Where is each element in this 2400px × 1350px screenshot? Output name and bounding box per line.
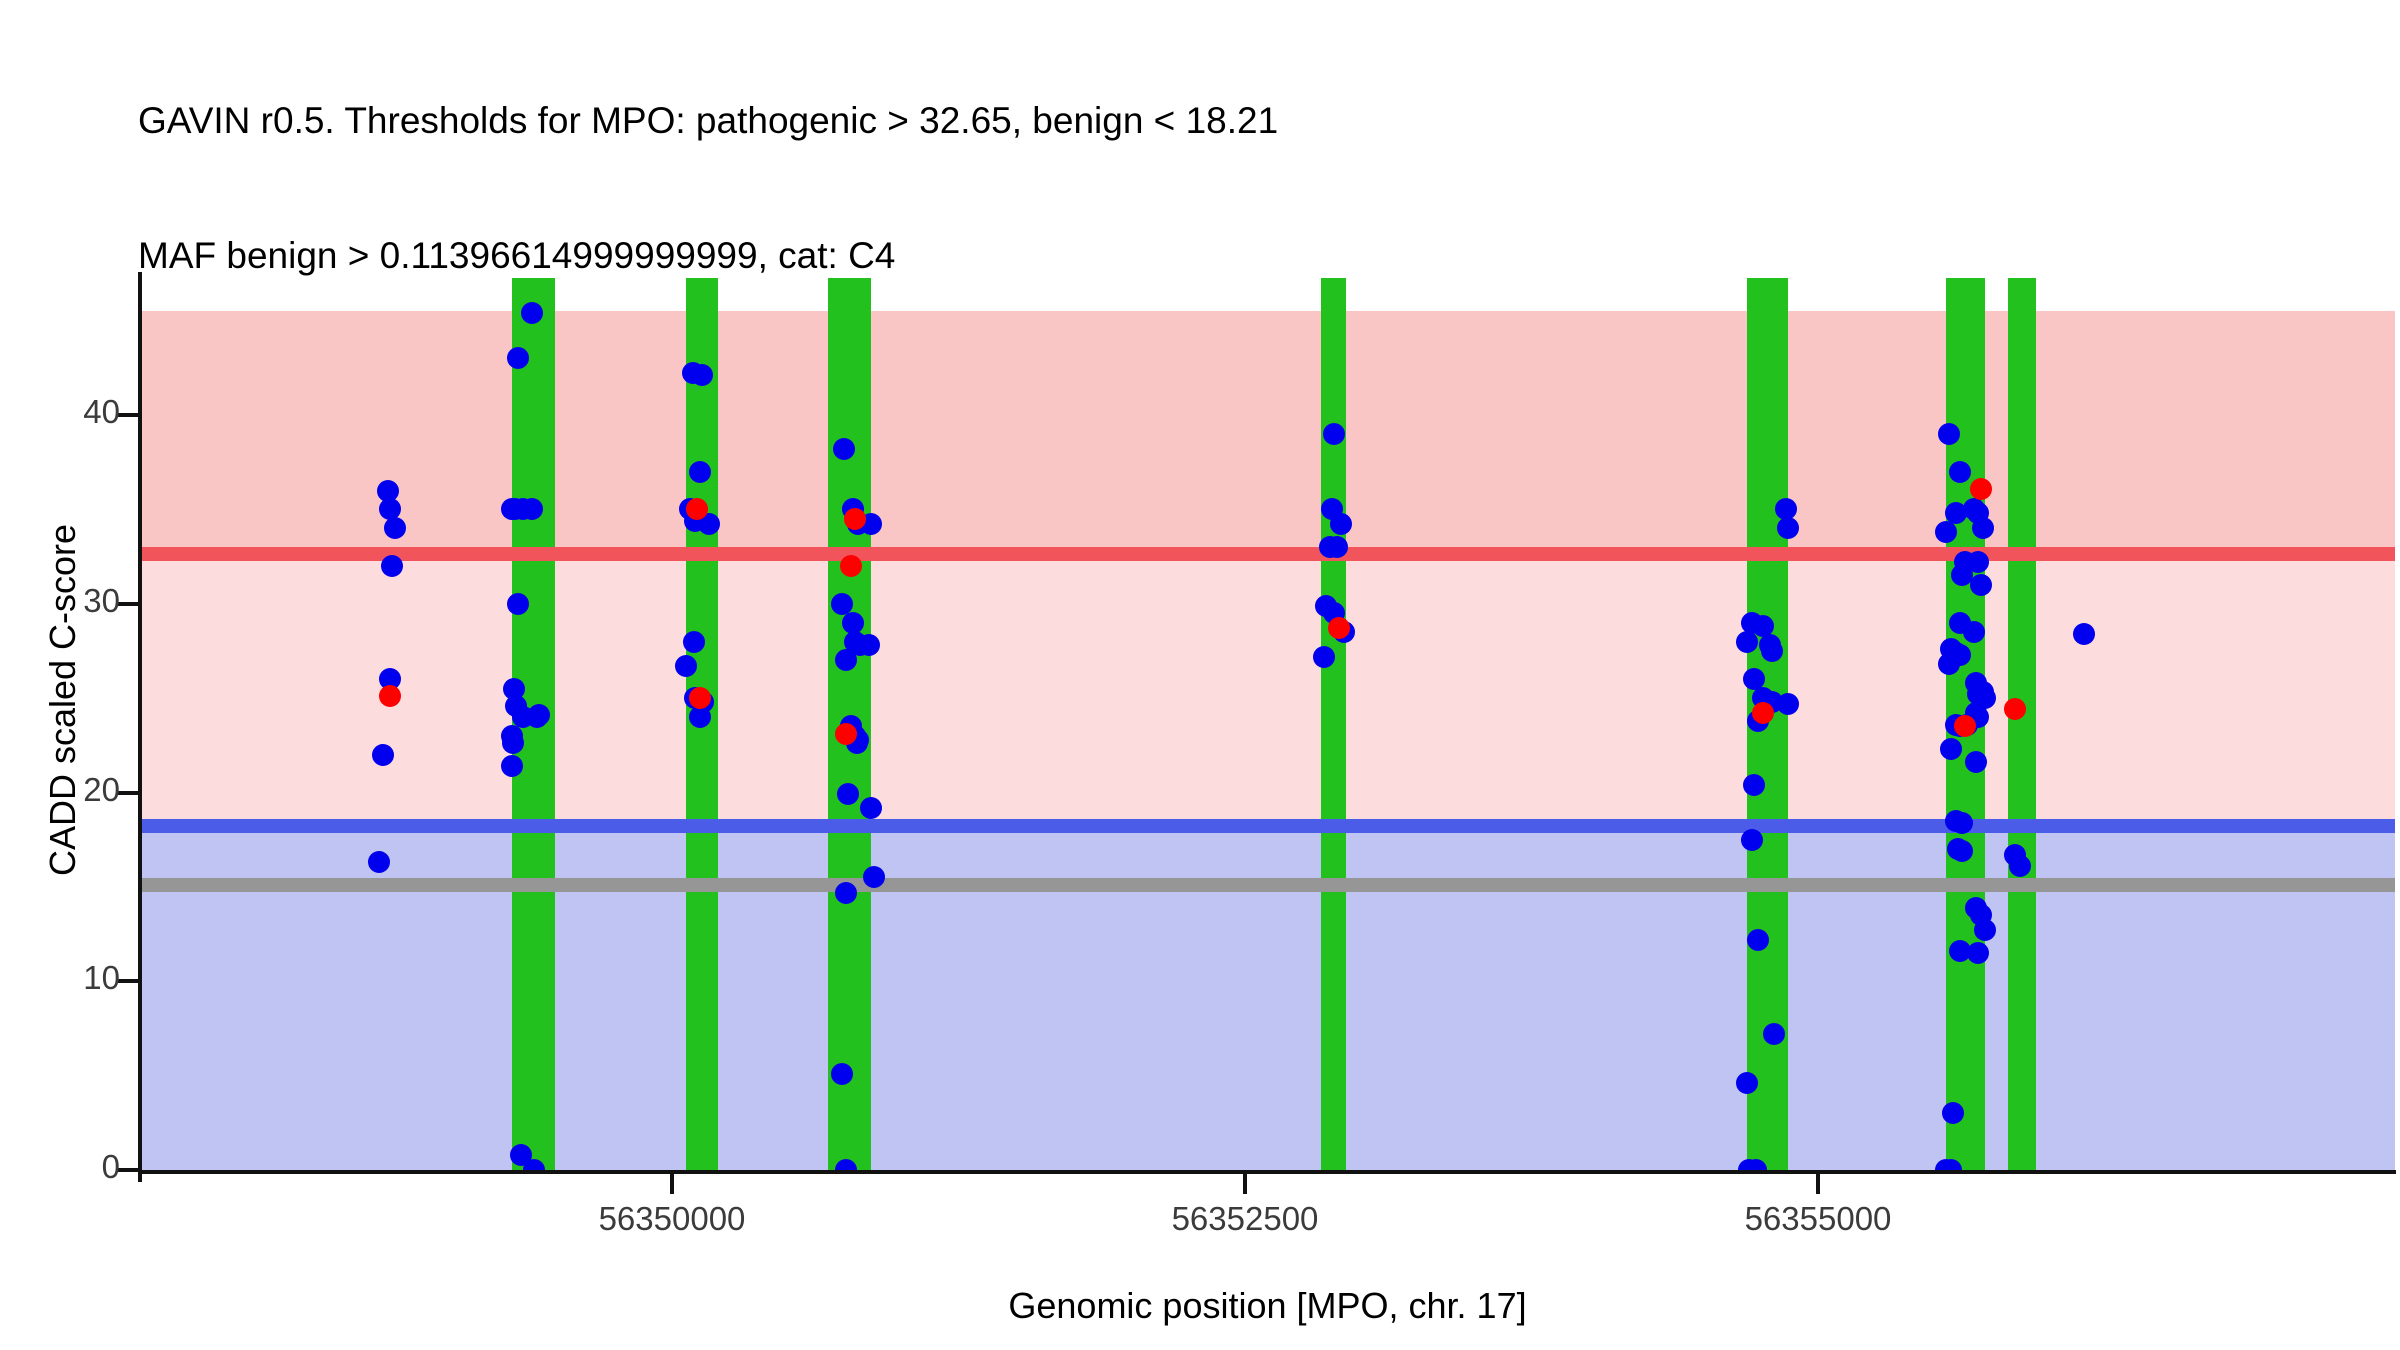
x-tick-label: 56355000	[1688, 1200, 1948, 1238]
gnomad-variant-point	[1938, 653, 1960, 675]
y-axis-title: CADD scaled C-score	[42, 250, 84, 1150]
y-tick-mark	[118, 413, 138, 417]
title-line-2: MAF benign > 0.11396614999999999, cat: C…	[138, 233, 2338, 278]
gnomad-variant-point	[1326, 536, 1348, 558]
clinvar-pathogenic-point	[1970, 478, 1992, 500]
gnomad-variant-point	[863, 866, 885, 888]
clinvar-pathogenic-point	[1954, 715, 1976, 737]
clinvar-pathogenic-point	[840, 555, 862, 577]
gnomad-variant-point	[1761, 640, 1783, 662]
gnomad-variant-point	[683, 631, 705, 653]
exon-bar	[2008, 278, 2036, 1170]
chart-root: GAVIN r0.5. Thresholds for MPO: pathogen…	[0, 0, 2400, 1350]
gnomad-variant-point	[689, 706, 711, 728]
y-tick-mark	[118, 791, 138, 795]
y-tick-label: 0	[0, 1148, 120, 1186]
gnomad-variant-point	[528, 704, 550, 726]
gnomad-variant-point	[384, 517, 406, 539]
gnomad-variant-point	[689, 461, 711, 483]
gnomad-variant-point	[1940, 738, 1962, 760]
x-axis-title: Genomic position [MPO, chr. 17]	[140, 1285, 2395, 1327]
gnomad-variant-point	[1963, 621, 1985, 643]
gnomad-variant-point	[1313, 646, 1335, 668]
x-tick-mark	[670, 1174, 674, 1194]
gnomad-variant-point	[1743, 774, 1765, 796]
gnomad-variant-point	[860, 797, 882, 819]
gnomad-variant-point	[1938, 423, 1960, 445]
x-tick-mark	[1243, 1174, 1247, 1194]
gnomad-variant-point	[502, 732, 524, 754]
y-tick-mark	[118, 979, 138, 983]
x-tick-label: 56352500	[1115, 1200, 1375, 1238]
gnomad-variant-point	[1777, 693, 1799, 715]
band-vous-zone	[140, 554, 2395, 827]
gnomad-variant-point	[1949, 461, 1971, 483]
gnomad-variant-point	[1951, 812, 1973, 834]
x-axis-line	[138, 1170, 2396, 1174]
gnomad-variant-point	[1747, 929, 1769, 951]
gnomad-variant-point	[835, 882, 857, 904]
band-pathogenic-zone	[140, 311, 2395, 554]
gnomad-variant-point	[675, 655, 697, 677]
threshold-line-benign	[140, 819, 2395, 833]
gnomad-variant-point	[2009, 855, 2031, 877]
gnomad-variant-point	[2073, 623, 2095, 645]
gnomad-variant-point	[691, 364, 713, 386]
gnomad-variant-point	[1741, 829, 1763, 851]
y-axis-line	[138, 272, 142, 1182]
x-tick-label: 56350000	[542, 1200, 802, 1238]
plot-panel	[140, 278, 2395, 1170]
gnomad-variant-point	[831, 1063, 853, 1085]
title-line-1: GAVIN r0.5. Thresholds for MPO: pathogen…	[138, 98, 2338, 143]
gnomad-variant-point	[1736, 631, 1758, 653]
gnomad-variant-point	[1970, 574, 1992, 596]
clinvar-pathogenic-point	[835, 723, 857, 745]
gnomad-variant-point	[833, 438, 855, 460]
threshold-line-genome-wide-fallback	[140, 878, 2395, 892]
x-tick-mark	[1816, 1174, 1820, 1194]
gnomad-variant-point	[501, 755, 523, 777]
gnomad-variant-point	[372, 744, 394, 766]
exon-bar	[1321, 278, 1346, 1170]
y-tick-mark	[118, 602, 138, 606]
clinvar-pathogenic-point	[689, 687, 711, 709]
y-tick-mark	[118, 1168, 138, 1172]
threshold-line-pathogenic	[140, 547, 2395, 561]
gnomad-variant-point	[1736, 1072, 1758, 1094]
gnomad-variant-point	[368, 851, 390, 873]
